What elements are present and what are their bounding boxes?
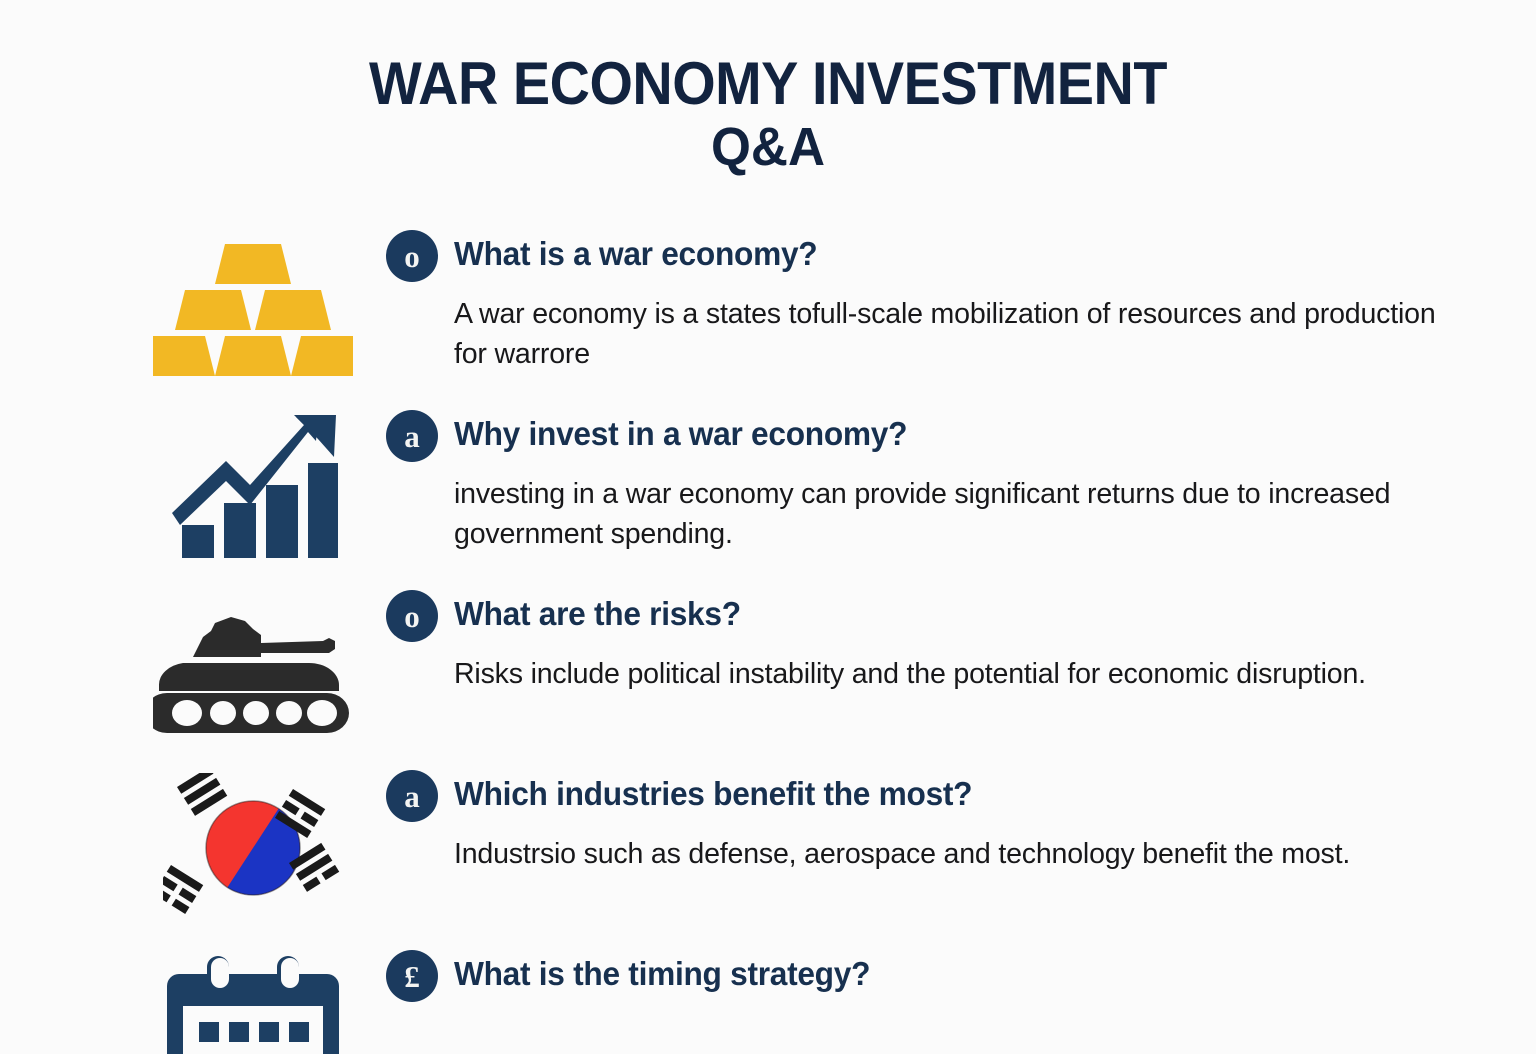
- page-title: WAR ECONOMY INVESTMENT Q&A: [0, 52, 1536, 177]
- qa-text-2: a Why invest in a war economy? investing…: [386, 408, 1466, 554]
- growth-chart-icon: [140, 408, 365, 568]
- answer-text-2: investing in a war economy can provide s…: [454, 474, 1439, 554]
- answer-text-4: Industrsio such as defense, aerospace an…: [454, 834, 1439, 874]
- answer-text-1: A war economy is a states tofull-scale m…: [454, 294, 1439, 374]
- calendar-icon: [140, 954, 365, 1054]
- question-line-1: o What is a war economy?: [386, 228, 1466, 284]
- badge-icon-4: a: [386, 770, 438, 822]
- badge-icon-2: a: [386, 410, 438, 462]
- badge-icon-3: o: [386, 590, 438, 642]
- question-line-2: a Why invest in a war economy?: [386, 408, 1466, 464]
- qa-text-3: o What are the risks? Risks include poli…: [386, 588, 1466, 694]
- qa-item-4: a Which industries benefit the most? Ind…: [0, 768, 1536, 948]
- qa-text-4: a Which industries benefit the most? Ind…: [386, 768, 1466, 874]
- answer-text-3: Risks include political instability and …: [454, 654, 1439, 694]
- title-line-1: WAR ECONOMY INVESTMENT: [54, 52, 1482, 115]
- qa-item-2: a Why invest in a war economy? investing…: [0, 408, 1536, 588]
- infographic-page: { "header": { "title_line1": "WAR ECONOM…: [0, 0, 1536, 1024]
- qa-text-1: o What is a war economy? A war economy i…: [386, 228, 1466, 374]
- qa-item-1: o What is a war economy? A war economy i…: [0, 228, 1536, 408]
- question-text-2: Why invest in a war economy?: [454, 408, 907, 454]
- badge-icon-5: £: [386, 950, 438, 1002]
- badge-icon-1: o: [386, 230, 438, 282]
- qa-item-3: o What are the risks? Risks include poli…: [0, 588, 1536, 768]
- south-korea-flag-icon: [140, 768, 365, 928]
- title-line-2: Q&A: [38, 117, 1497, 177]
- qa-item-5: £ What is the timing strategy?: [0, 948, 1536, 1048]
- question-text-4: Which industries benefit the most?: [454, 768, 972, 814]
- question-line-5: £ What is the timing strategy?: [386, 948, 1466, 1004]
- tank-icon: [140, 588, 365, 748]
- question-line-4: a Which industries benefit the most?: [386, 768, 1466, 824]
- question-text-1: What is a war economy?: [454, 228, 817, 274]
- qa-text-5: £ What is the timing strategy?: [386, 948, 1466, 1004]
- qa-list: o What is a war economy? A war economy i…: [0, 228, 1536, 1048]
- question-text-5: What is the timing strategy?: [454, 948, 870, 994]
- question-line-3: o What are the risks?: [386, 588, 1466, 644]
- gold-bars-icon: [140, 228, 365, 388]
- question-text-3: What are the risks?: [454, 588, 741, 634]
